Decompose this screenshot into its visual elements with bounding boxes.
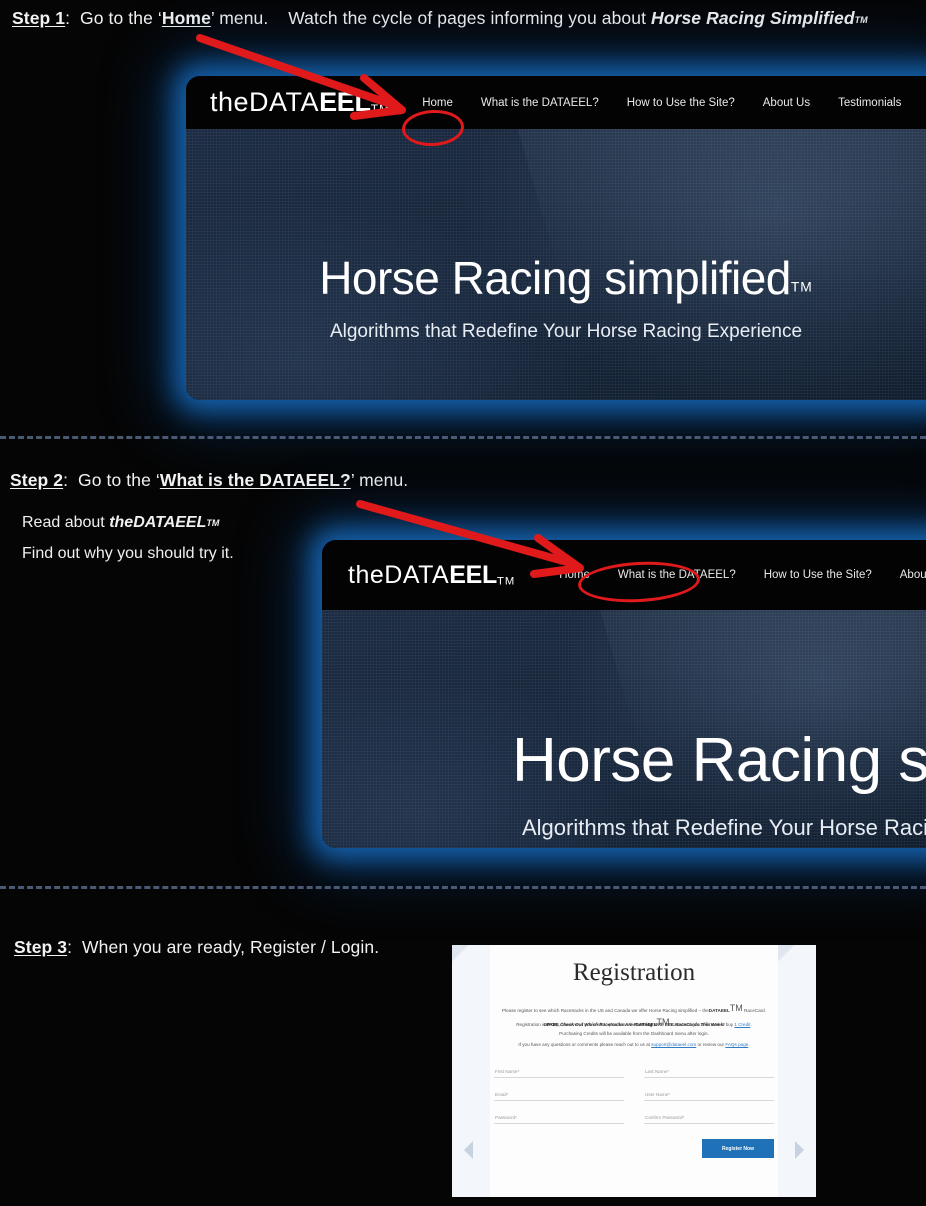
registration-title: Registration [452,959,816,987]
nav-links-1: Home What is the DATAEEL? How to Use the… [422,97,926,109]
step-2-subline-1-tm: TM [206,518,219,528]
field-first-name[interactable]: First Name* [494,1060,624,1078]
site-logo-2[interactable]: theDATAEELTM [348,561,515,590]
field-user-name-label: User Name* [645,1092,670,1097]
reg-support-email-link[interactable]: support@dataeel.com [651,1042,696,1047]
logo-pre-2: the [348,561,384,589]
field-password[interactable]: Password* [494,1106,624,1124]
registration-contact: If you have any questions or comments pl… [452,1042,816,1047]
hero-banner-1: Horse Racing simplifiedTM Algorithms tha… [186,129,926,400]
logo-pre: the [210,87,249,117]
hero-title-tm-1: TM [791,279,813,294]
hero-title-1: Horse Racing simplifiedTM [186,251,926,305]
step-2-keyword: What is the DATAEEL? [160,470,351,490]
reg-contact-c: . [748,1042,749,1047]
step-2-text-before: Go to the ‘ [78,470,160,490]
step-2-instruction: Step 2: Go to the ‘What is the DATAEEL?’… [10,470,408,491]
reg-faqs-link[interactable]: FAQs page [725,1042,748,1047]
nav-item-testimonials[interactable]: Testimonials [838,97,901,109]
browser-viewport-1: theDATAEELTM Home What is the DATAEEL? H… [186,76,926,400]
reg-para-l1c: RaceCard. [743,1008,766,1013]
step-1-emphasis: Horse Racing Simplified [651,8,855,28]
carousel-prev-arrow[interactable] [464,1141,473,1159]
step-2-colon: : [63,470,68,490]
site-navbar-1: theDATAEELTM Home What is the DATAEEL? H… [186,76,926,129]
nav-item-what-is-the-dataeel[interactable]: What is the DATAEEL? [481,97,599,109]
hero-subtitle-2: Algorithms that Redefine Your Horse Raci… [322,815,926,841]
step-1-instruction: Step 1: Go to the ‘Home’ menu. Watch the… [12,8,868,29]
logo-tm: TM [371,102,391,116]
field-user-name[interactable]: User Name* [644,1083,774,1101]
step-1-emphasis-tm: TM [855,15,868,25]
nav-item-home[interactable]: Home [422,97,453,109]
logo-tm-2: TM [497,575,515,587]
nav-item-how-to-use-the-site-2[interactable]: How to Use the Site? [764,569,872,581]
screenshot-home-page: theDATAEELTM Home What is the DATAEEL? H… [186,76,926,400]
step-1-text-before: Go to the ‘ [80,8,162,28]
step-1-text-after: ’ menu. [211,8,268,28]
logo-bold: EEL [319,87,371,117]
field-first-name-label: First Name* [495,1069,519,1074]
site-logo-1[interactable]: theDATAEELTM [210,87,390,118]
registration-callout: Go On, Check Out Which Racetracks Are Ru… [452,1022,816,1027]
reg-para-l3: Purchasing Credits will be available fro… [559,1031,709,1036]
field-password-label: Password* [495,1115,517,1120]
step-3-text: When you are ready, Register / Login. [82,937,379,957]
reg-contact-a: If you have any questions or comments pl… [518,1042,651,1047]
nav-item-about-us-2[interactable]: About Us [900,569,926,581]
hero-subtitle-1: Algorithms that Redefine Your Horse Raci… [186,321,926,343]
step-2-text-after: ’ menu. [351,470,408,490]
hero-title-text-1: Horse Racing simplified [319,252,791,304]
step-2-subline-1: Read about theDATAEELTM [22,514,219,532]
nav-item-how-to-use-the-site[interactable]: How to Use the Site? [627,97,735,109]
hero-title-2: Horse Racing simpli [322,725,926,796]
step-3-label: Step 3 [14,937,67,957]
field-last-name-label: Last Name* [645,1069,669,1074]
step-1-colon: : [65,8,70,28]
register-now-button[interactable]: Register Now [702,1139,774,1158]
field-email-label: Email* [495,1092,508,1097]
logo-mid: DATA [249,87,319,117]
logo-bold-2: EEL [449,561,497,589]
registration-paragraph: Please register to see which Racetracks … [452,1002,816,1037]
reg-para-l1a: Please register to see which Racetracks … [502,1008,709,1013]
section-divider-2 [0,886,926,889]
hero-title-text-2: Horse Racing simpli [512,726,926,795]
step-1-keyword: Home [162,8,211,28]
hero-banner-2: Horse Racing simpli Algorithms that Rede… [322,610,926,848]
step-2-subline-1-prefix: Read about [22,514,109,531]
logo-mid-2: DATA [384,561,449,589]
step-2-subline-2: Find out why you should try it. [22,545,234,563]
step-1-extra: Watch the cycle of pages informing you a… [288,8,646,28]
field-confirm-password-label: Confirm Password* [645,1115,684,1120]
screenshot-registration-page: Registration Please register to see whic… [452,945,816,1197]
instructions-page: { "steps": [ { "label": "Step 1", "colon… [0,0,926,1206]
step-2-subline-1-emphasis: theDATAEEL [109,514,206,531]
field-email[interactable]: Email* [494,1083,624,1101]
step-3-colon: : [67,937,72,957]
reg-para-l1b: DATAEEL [709,1008,730,1013]
step-3-instruction: Step 3: When you are ready, Register / L… [14,937,379,958]
reg-para-l1tm: TM [730,1003,743,1013]
step-1-label: Step 1 [12,8,65,28]
section-divider-1 [0,436,926,439]
field-last-name[interactable]: Last Name* [644,1060,774,1078]
nav-item-about-us[interactable]: About Us [763,97,810,109]
reg-contact-b: or review our [696,1042,725,1047]
carousel-next-arrow[interactable] [795,1141,804,1159]
field-confirm-password[interactable]: Confirm Password* [644,1106,774,1124]
step-2-label: Step 2 [10,470,63,490]
